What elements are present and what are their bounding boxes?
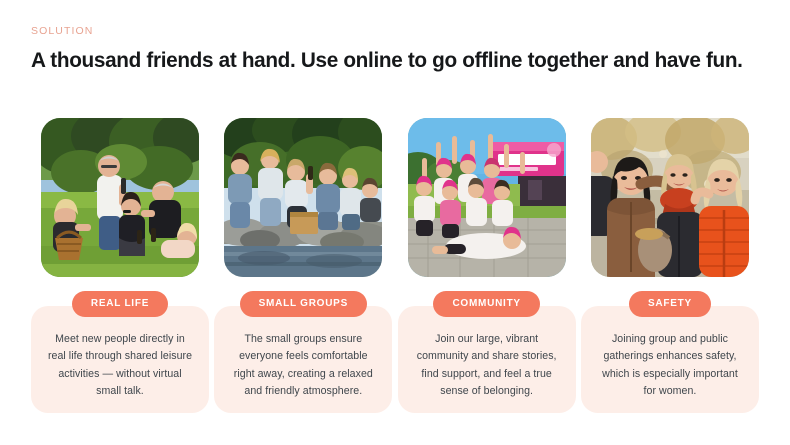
status-badge: SAFETY xyxy=(629,291,711,317)
solution-section: SOLUTION A thousand friends at hand. Use… xyxy=(0,0,790,445)
photo-friends-picnic-park xyxy=(41,118,199,277)
feature-card: COMMUNITY Join our large, vibrant commun… xyxy=(398,118,576,413)
feature-card-list: REAL LIFE Meet new people directly in re… xyxy=(31,118,759,413)
card-panel: Meet new people directly in real life th… xyxy=(31,306,209,413)
card-panel: Join our large, vibrant community and sh… xyxy=(398,306,576,413)
card-body: Join our large, vibrant community and sh… xyxy=(417,331,557,401)
section-header: SOLUTION A thousand friends at hand. Use… xyxy=(31,24,761,73)
photo-illustration xyxy=(408,118,566,277)
card-panel: Joining group and public gatherings enha… xyxy=(581,306,759,413)
feature-card: SAFETY Joining group and public gatherin… xyxy=(581,118,759,413)
status-badge: COMMUNITY xyxy=(433,291,539,317)
section-eyebrow: SOLUTION xyxy=(31,24,761,38)
card-panel: The small groups ensure everyone feels c… xyxy=(214,306,392,413)
card-body: Meet new people directly in real life th… xyxy=(48,331,192,401)
card-info: SMALL GROUPS The small groups ensure eve… xyxy=(214,291,392,413)
photo-cheering-crowd-event xyxy=(408,118,566,277)
card-info: SAFETY Joining group and public gatherin… xyxy=(581,291,759,413)
status-badge: REAL LIFE xyxy=(72,291,168,317)
photo-illustration xyxy=(591,118,749,277)
status-badge: SMALL GROUPS xyxy=(240,291,367,317)
card-body: Joining group and public gatherings enha… xyxy=(602,331,738,401)
card-info: REAL LIFE Meet new people directly in re… xyxy=(31,291,209,413)
photo-women-smiling-autumn xyxy=(591,118,749,277)
photo-illustration xyxy=(224,118,382,277)
page-title: A thousand friends at hand. Use online t… xyxy=(31,47,735,73)
feature-card: REAL LIFE Meet new people directly in re… xyxy=(31,118,209,413)
card-body: The small groups ensure everyone feels c… xyxy=(234,331,373,401)
photo-illustration xyxy=(41,118,199,277)
feature-card: SMALL GROUPS The small groups ensure eve… xyxy=(214,118,392,413)
photo-group-on-rocks-by-water xyxy=(224,118,382,277)
card-info: COMMUNITY Join our large, vibrant commun… xyxy=(398,291,576,413)
